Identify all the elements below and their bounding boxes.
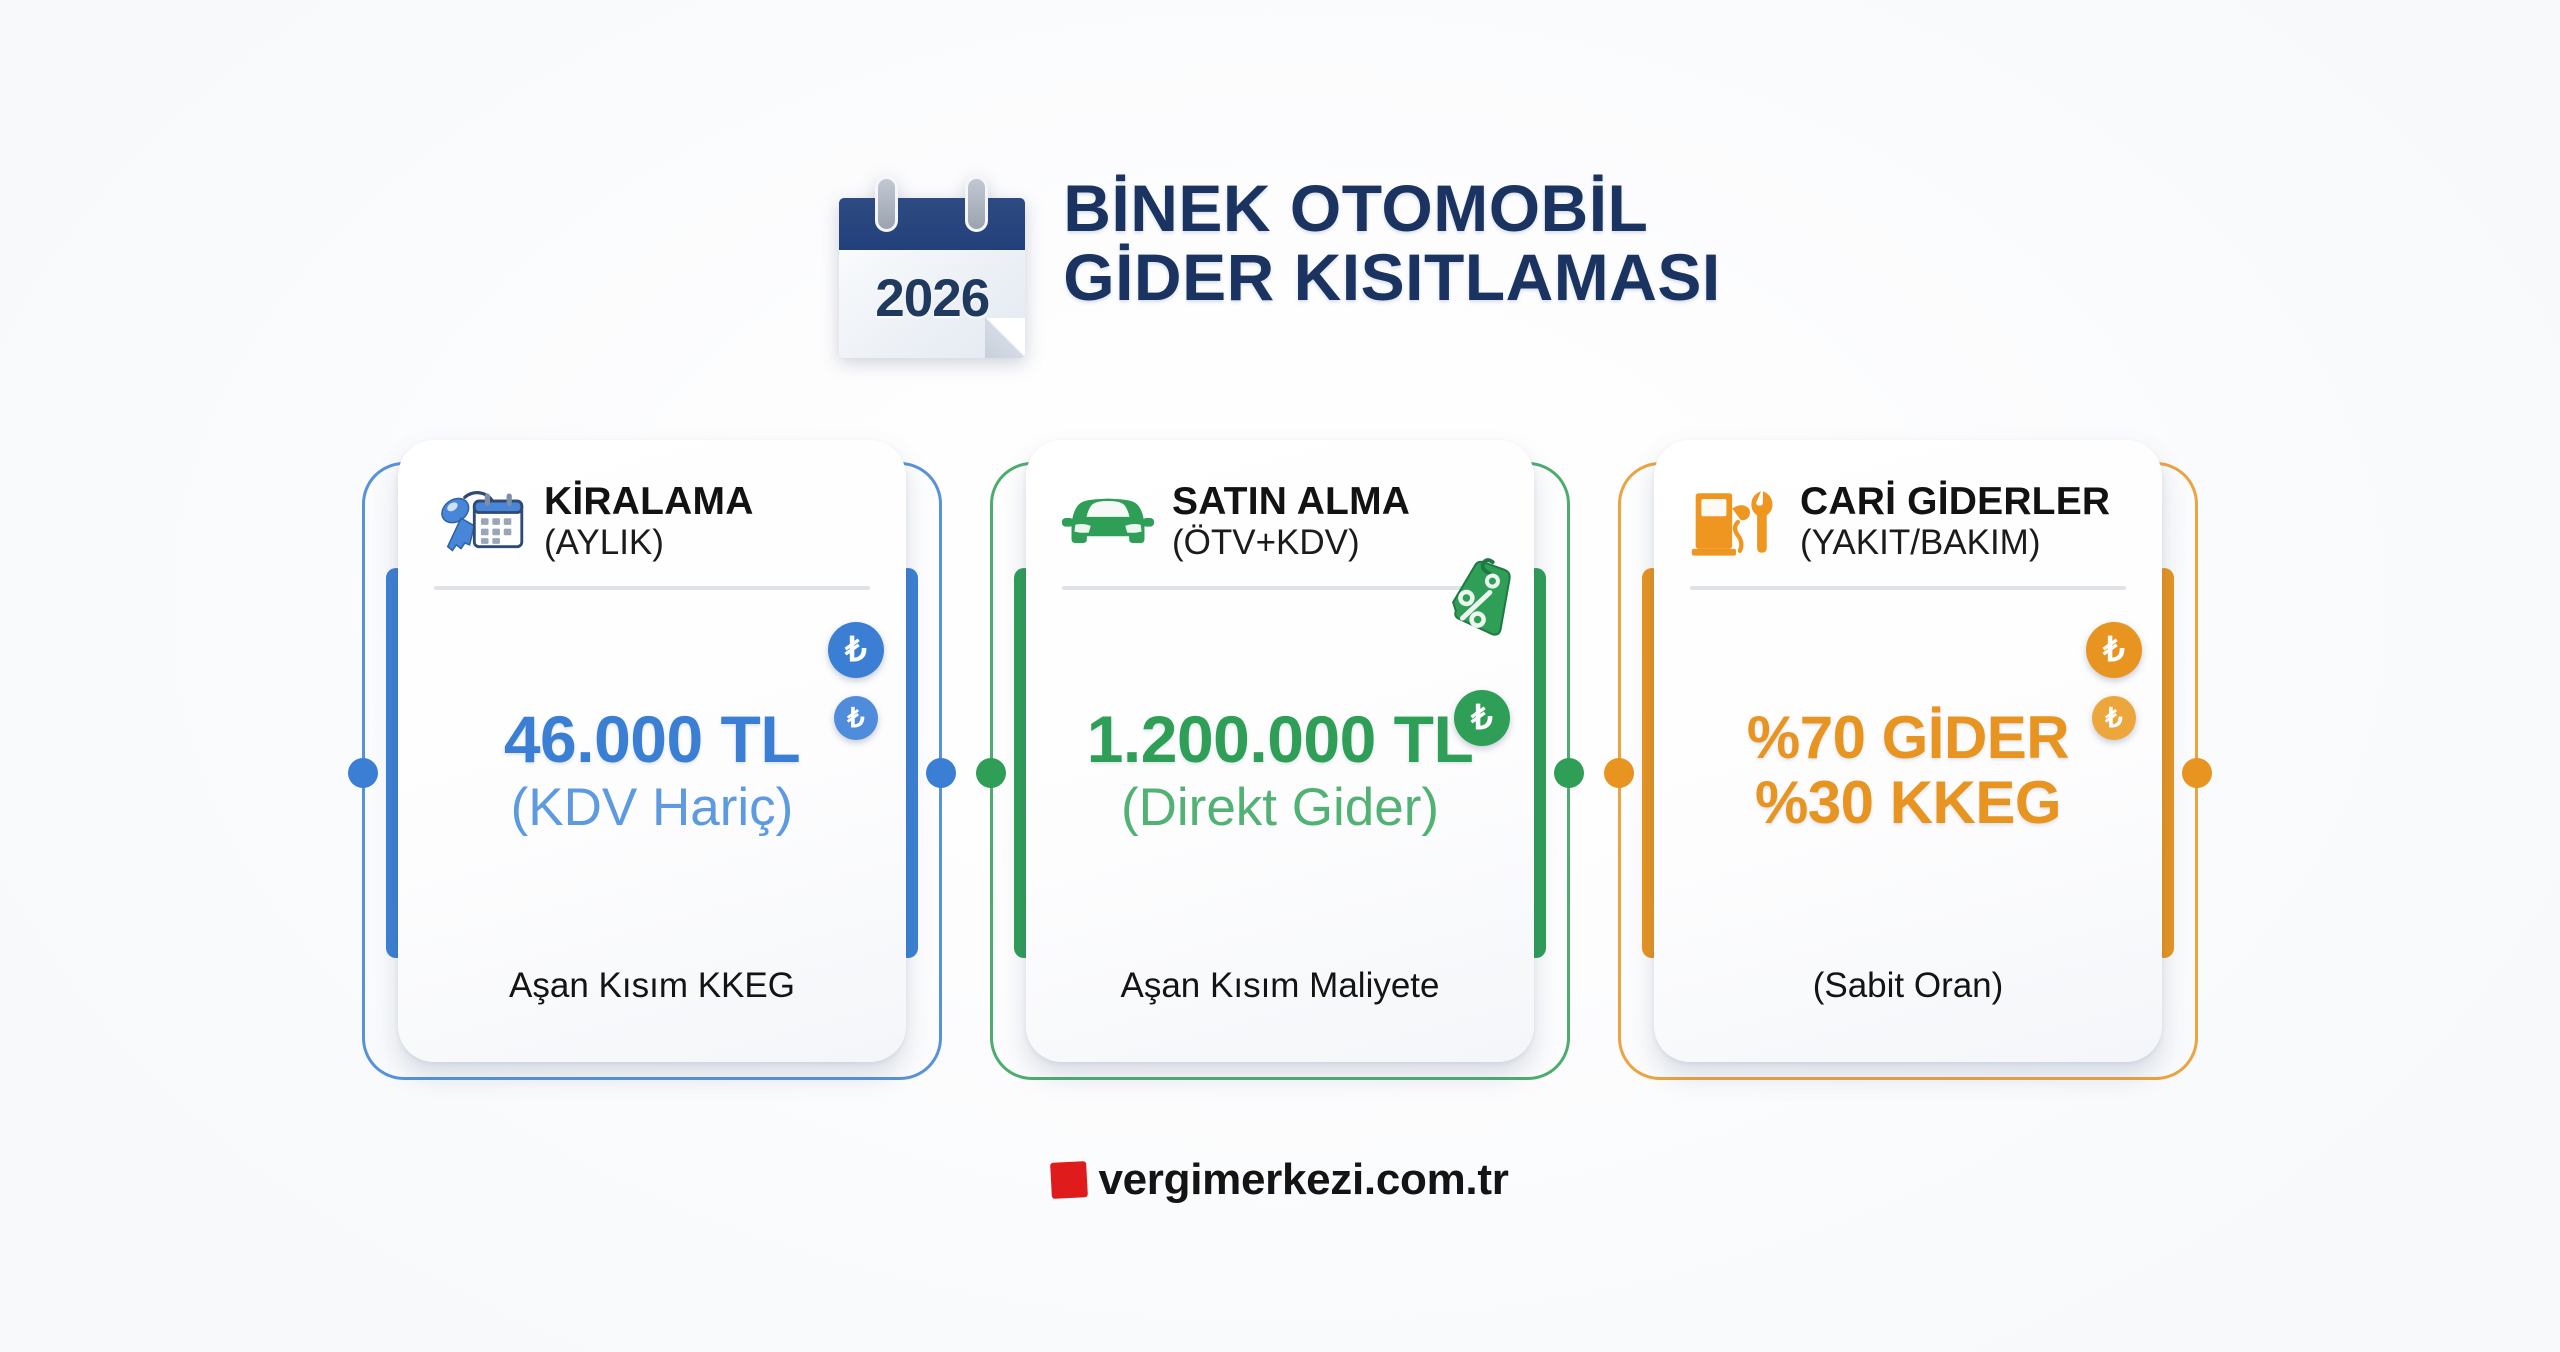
- car-front-icon: [1060, 484, 1156, 560]
- card-footnote: Aşan Kısım KKEG: [432, 966, 872, 1032]
- footer-website-url[interactable]: vergimerkezi.com.tr: [1098, 1155, 1508, 1205]
- card-header-labels: KİRALAMA (AYLIK): [544, 482, 754, 562]
- lira-coin-badge-small: ₺: [2092, 696, 2136, 740]
- card-footnote: (Sabit Oran): [1688, 966, 2128, 1032]
- card-header: KİRALAMA (AYLIK): [432, 482, 872, 562]
- card-body: %70 GİDER %30 KKEG: [1688, 576, 2128, 966]
- connector-dot-left: [1604, 758, 1634, 788]
- card-surface: CARİ GİDERLER (YAKIT/BAKIM) ₺ ₺ %70 GİDE…: [1654, 440, 2162, 1062]
- lira-coin-badge-large: ₺: [1454, 690, 1510, 746]
- connector-dot-right: [1554, 758, 1584, 788]
- card-header-labels: CARİ GİDERLER (YAKIT/BAKIM): [1800, 482, 2110, 562]
- card-amount-line-2: %30 KKEG: [1755, 771, 2061, 836]
- connector-dot-right: [926, 758, 956, 788]
- page-title-line-1: BİNEK OTOMOBİL: [1063, 174, 1721, 243]
- card-header: CARİ GİDERLER (YAKIT/BAKIM): [1688, 482, 2128, 562]
- card-body: 1.200.000 TL (Direkt Gider): [1060, 576, 1500, 966]
- card-amount: 1.200.000 TL: [1087, 704, 1474, 775]
- key-calendar-icon: [432, 484, 528, 560]
- calendar-corner-fold: [985, 318, 1025, 358]
- brand-square-icon: [1051, 1161, 1089, 1199]
- lira-coin-badge-small: ₺: [834, 696, 878, 740]
- infographic-canvas: 2026 BİNEK OTOMOBİL GİDER KISITLAMASI: [0, 0, 2560, 1352]
- card-title: KİRALAMA: [544, 482, 754, 522]
- card-header-labels: SATIN ALMA (ÖTV+KDV): [1172, 482, 1410, 562]
- card-row: KİRALAMA (AYLIK) ₺ ₺ 46.000 TL (KDV Hari…: [0, 440, 2560, 1090]
- lira-coin-badge-large: ₺: [828, 622, 884, 678]
- card-header: SATIN ALMA (ÖTV+KDV): [1060, 482, 1500, 562]
- fuel-wrench-icon: [1688, 484, 1784, 560]
- page-title: BİNEK OTOMOBİL GİDER KISITLAMASI: [1063, 172, 1721, 311]
- connector-dot-left: [976, 758, 1006, 788]
- card-amount-note: (KDV Hariç): [511, 778, 794, 837]
- card-surface: SATIN ALMA (ÖTV+KDV) ₺: [1026, 440, 1534, 1062]
- card-amount: %70 GİDER: [1747, 706, 2069, 771]
- card-title: CARİ GİDERLER: [1800, 482, 2110, 522]
- card-subtitle: (AYLIK): [544, 524, 754, 562]
- calendar-2026-icon: 2026: [839, 176, 1025, 358]
- card-surface: KİRALAMA (AYLIK) ₺ ₺ 46.000 TL (KDV Hari…: [398, 440, 906, 1062]
- card-satin-alma[interactable]: SATIN ALMA (ÖTV+KDV) ₺: [980, 440, 1580, 1090]
- connector-dot-right: [2182, 758, 2212, 788]
- card-cari-giderler[interactable]: CARİ GİDERLER (YAKIT/BAKIM) ₺ ₺ %70 GİDE…: [1608, 440, 2208, 1090]
- card-title: SATIN ALMA: [1172, 482, 1410, 522]
- card-amount-note: (Direkt Gider): [1121, 778, 1439, 837]
- calendar-header-band: [839, 198, 1025, 250]
- card-subtitle: (YAKIT/BAKIM): [1800, 524, 2110, 562]
- card-amount: 46.000 TL: [504, 704, 800, 775]
- calendar-ring-right: [965, 176, 988, 232]
- connector-dot-left: [348, 758, 378, 788]
- card-body: 46.000 TL (KDV Hariç): [432, 576, 872, 966]
- page-title-line-2: GİDER KISITLAMASI: [1063, 243, 1721, 312]
- card-subtitle: (ÖTV+KDV): [1172, 524, 1410, 562]
- card-footnote: Aşan Kısım Maliyete: [1060, 966, 1500, 1032]
- card-kiralama[interactable]: KİRALAMA (AYLIK) ₺ ₺ 46.000 TL (KDV Hari…: [352, 440, 952, 1090]
- lira-coin-badge-large: ₺: [2086, 622, 2142, 678]
- footer: vergimerkezi.com.tr: [0, 1155, 2560, 1205]
- calendar-ring-left: [875, 176, 898, 232]
- header-block: 2026 BİNEK OTOMOBİL GİDER KISITLAMASI: [0, 172, 2560, 358]
